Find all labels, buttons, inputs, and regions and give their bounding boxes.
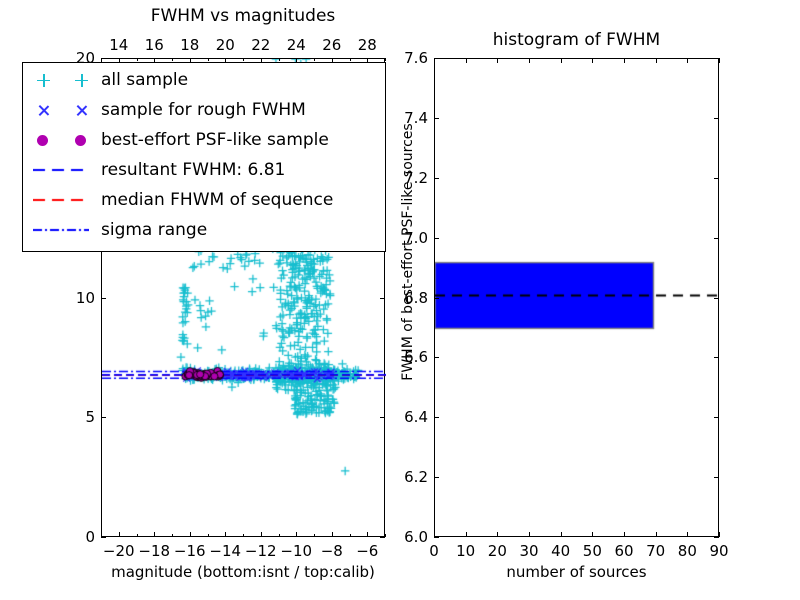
tick-mark [332, 532, 333, 537]
tick-mark [350, 58, 351, 61]
tick-mark [719, 58, 720, 63]
right-plot-title: histogram of FWHM [434, 30, 719, 50]
tick-mark [225, 532, 226, 537]
legend-item[interactable]: resultant FWHM: 6.81 [23, 155, 385, 185]
x-marker-icon [75, 104, 88, 117]
tick-mark [714, 238, 719, 239]
tick-label: 90 [709, 542, 728, 560]
tick-mark [296, 532, 297, 537]
tick-label: −14 [209, 542, 241, 560]
tick-mark [592, 58, 593, 63]
tick-label: 30 [519, 542, 538, 560]
x-marker-icon [37, 104, 50, 117]
tick-mark [119, 532, 120, 537]
tick-label: 50 [583, 542, 602, 560]
tick-mark [190, 532, 191, 537]
dashdot-line-icon [33, 223, 89, 237]
right-yaxis-label: FWHM of best-effort PSF-like sources [400, 42, 416, 462]
tick-mark [714, 417, 719, 418]
dot-marker-icon [75, 135, 86, 146]
tick-mark [714, 298, 719, 299]
tick-mark [380, 298, 385, 299]
tick-label: 10 [456, 542, 475, 560]
tick-mark [434, 178, 439, 179]
tick-label: 70 [646, 542, 665, 560]
tick-label: 60 [614, 542, 633, 560]
histogram-plot-area [435, 59, 720, 538]
tick-mark [434, 298, 439, 299]
legend-item[interactable]: sigma range [23, 215, 385, 245]
legend-item[interactable]: best-effort PSF-like sample [23, 125, 385, 155]
tick-mark [101, 58, 106, 59]
plus-marker-icon [75, 74, 88, 87]
tick-label: −16 [174, 542, 206, 560]
tick-mark [592, 532, 593, 537]
tick-mark [101, 537, 106, 538]
left-plot-title: FWHM vs magnitudes [101, 6, 385, 26]
tick-mark [656, 58, 657, 63]
tick-mark [466, 58, 467, 63]
tick-mark [714, 58, 719, 59]
tick-mark [385, 534, 386, 537]
tick-mark [380, 58, 385, 59]
tick-label: 28 [358, 36, 377, 54]
tick-mark [624, 532, 625, 537]
tick-mark [561, 58, 562, 63]
tick-mark [624, 58, 625, 63]
tick-mark [279, 58, 280, 61]
tick-label: −12 [245, 542, 277, 560]
tick-mark [714, 178, 719, 179]
tick-mark [367, 532, 368, 537]
dashed-line-icon [33, 193, 89, 207]
tick-mark [172, 534, 173, 537]
legend-item[interactable]: all sample [23, 65, 385, 95]
figure-canvas: FWHM vs magnitudes −20−18−16−14−12−10−8−… [0, 0, 800, 600]
tick-mark [714, 357, 719, 358]
tick-mark [154, 532, 155, 537]
tick-mark [497, 532, 498, 537]
legend-item-label: sample for rough FWHM [101, 100, 306, 120]
tick-mark [350, 534, 351, 537]
tick-label: 80 [678, 542, 697, 560]
tick-label: 16 [145, 36, 164, 54]
dot-marker-icon [37, 135, 48, 146]
legend-item[interactable]: sample for rough FWHM [23, 95, 385, 125]
tick-label: −20 [103, 542, 135, 560]
tick-label: 6.2 [390, 468, 428, 486]
tick-label: 40 [551, 542, 570, 560]
tick-label: 20 [488, 542, 507, 560]
tick-label: −10 [280, 542, 312, 560]
tick-mark [101, 417, 106, 418]
tick-mark [714, 537, 719, 538]
right-xaxis-label: number of sources [434, 563, 719, 581]
legend-item[interactable]: median FHWM of sequence [23, 185, 385, 215]
tick-label: 26 [322, 36, 341, 54]
tick-mark [434, 238, 439, 239]
tick-label: −6 [356, 542, 378, 560]
tick-label: 0 [61, 528, 95, 546]
tick-mark [714, 477, 719, 478]
tick-mark [137, 58, 138, 61]
tick-mark [385, 58, 386, 61]
tick-mark [434, 118, 439, 119]
tick-mark [172, 58, 173, 61]
tick-mark [656, 532, 657, 537]
legend-item-label: resultant FWHM: 6.81 [101, 160, 285, 180]
plus-marker-icon [37, 74, 50, 87]
tick-mark [687, 58, 688, 63]
tick-mark [434, 537, 439, 538]
tick-label: −8 [321, 542, 343, 560]
tick-mark [466, 532, 467, 537]
tick-mark [561, 532, 562, 537]
tick-mark [314, 58, 315, 61]
tick-mark [101, 298, 106, 299]
tick-mark [314, 534, 315, 537]
left-xaxis-label: magnitude (bottom:isnt / top:calib) [101, 563, 385, 581]
tick-mark [497, 58, 498, 63]
tick-mark [529, 532, 530, 537]
tick-label: 5 [61, 408, 95, 426]
tick-mark [279, 534, 280, 537]
legend-item-label: sigma range [101, 220, 207, 240]
tick-mark [434, 477, 439, 478]
tick-label: −18 [138, 542, 170, 560]
tick-label: 18 [180, 36, 199, 54]
tick-mark [243, 58, 244, 61]
tick-label: 20 [216, 36, 235, 54]
legend-item-label: median FHWM of sequence [101, 190, 333, 210]
tick-mark [434, 58, 439, 59]
tick-mark [208, 534, 209, 537]
tick-label: 22 [251, 36, 270, 54]
tick-mark [380, 417, 385, 418]
tick-mark [243, 534, 244, 537]
tick-label: 6.0 [390, 528, 428, 546]
tick-mark [434, 357, 439, 358]
tick-mark [137, 534, 138, 537]
dashed-line-icon [33, 163, 89, 177]
tick-mark [380, 537, 385, 538]
tick-label: 24 [287, 36, 306, 54]
tick-mark [719, 532, 720, 537]
tick-mark [714, 118, 719, 119]
tick-mark [434, 417, 439, 418]
tick-mark [529, 58, 530, 63]
legend-item-label: best-effort PSF-like sample [101, 130, 329, 150]
legend-item-label: all sample [101, 70, 188, 90]
tick-label: 14 [109, 36, 128, 54]
tick-mark [208, 58, 209, 61]
tick-label: 0 [429, 542, 439, 560]
legend-box: all samplesample for rough FWHMbest-effo… [22, 62, 386, 252]
tick-mark [261, 532, 262, 537]
tick-mark [687, 532, 688, 537]
